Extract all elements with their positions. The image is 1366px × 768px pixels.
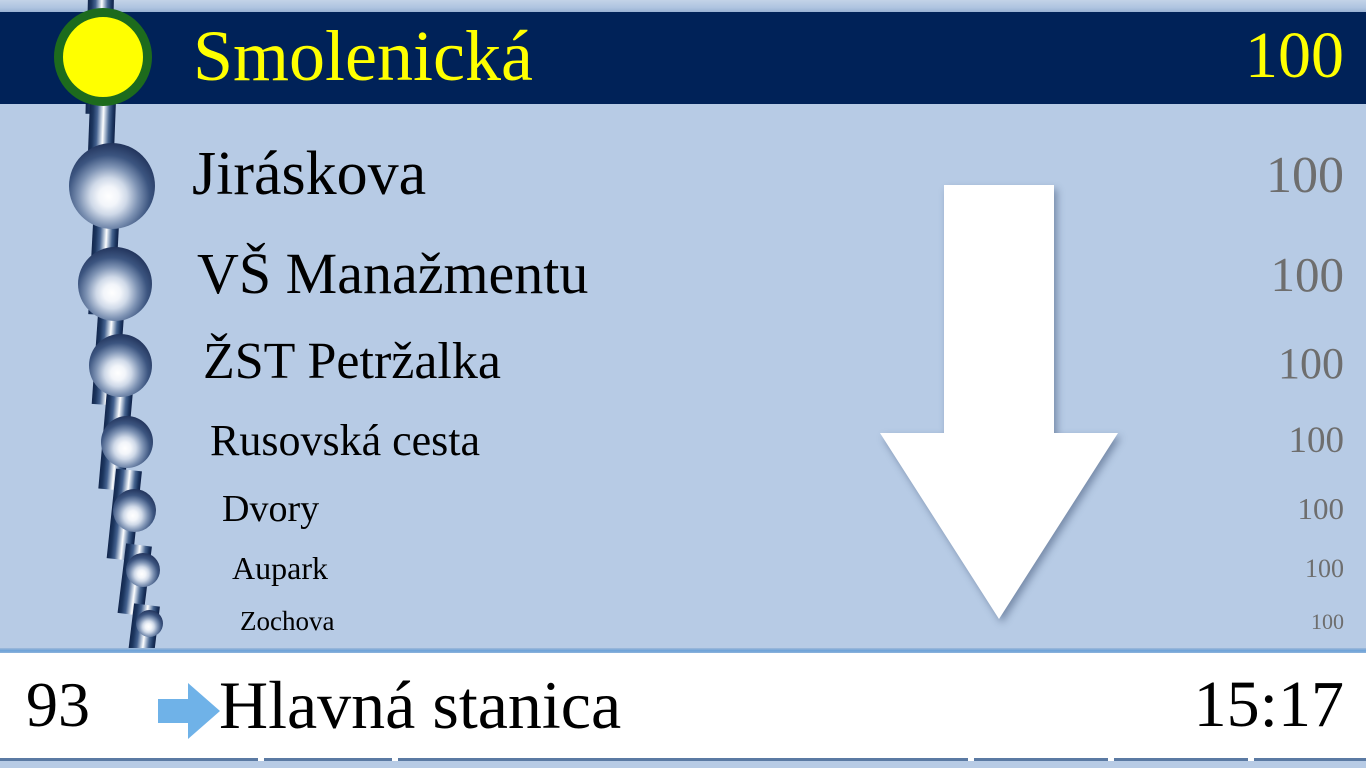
header-gradient-fade xyxy=(0,104,1366,120)
stop-value: 100 xyxy=(1289,419,1345,462)
arrow-right-icon xyxy=(158,683,220,739)
transit-display-screen: Smolenická 100 Jiráskova 100 VŠ Manažmen… xyxy=(0,0,1366,768)
stop-name: Rusovská cesta xyxy=(210,415,480,466)
stop-name: ŽST Petržalka xyxy=(203,332,501,391)
stop-dot-icon xyxy=(136,610,163,637)
clock: 15:17 xyxy=(1194,653,1344,760)
bottom-edge-gap xyxy=(392,758,398,761)
current-stop-value: 100 xyxy=(1245,12,1344,104)
stop-value: 100 xyxy=(1298,491,1345,527)
arrow-down-icon xyxy=(880,185,1118,619)
stop-dot-icon xyxy=(113,489,156,532)
stop-value: 100 xyxy=(1278,338,1344,389)
stop-dot-icon xyxy=(89,334,152,397)
stop-dot-icon xyxy=(78,247,152,321)
page-title: Smolenická xyxy=(193,12,533,104)
stop-name: Zochova xyxy=(240,606,334,637)
stop-value: 100 xyxy=(1305,554,1344,584)
stop-value: 100 xyxy=(1271,246,1345,303)
bottom-edge-line xyxy=(0,758,1366,761)
stop-value: 100 xyxy=(1311,609,1344,635)
stop-dot-icon xyxy=(101,416,153,468)
stop-name: VŠ Manažmentu xyxy=(197,240,588,307)
bottom-edge-gap xyxy=(1108,758,1114,761)
stop-dot-icon xyxy=(126,553,160,587)
stop-dot-icon xyxy=(69,143,155,229)
stop-name: Dvory xyxy=(222,487,319,531)
bottom-edge-gap xyxy=(968,758,974,761)
stop-value: 100 xyxy=(1266,146,1344,205)
stop-name: Jiráskova xyxy=(192,139,426,210)
line-number: 93 xyxy=(26,653,90,760)
bottom-edge-gap xyxy=(1248,758,1254,761)
stop-name: Aupark xyxy=(232,550,328,587)
bottom-edge-gap xyxy=(258,758,264,761)
destination-name: Hlavná stanica xyxy=(219,653,621,760)
current-stop-dot-icon xyxy=(54,8,152,106)
